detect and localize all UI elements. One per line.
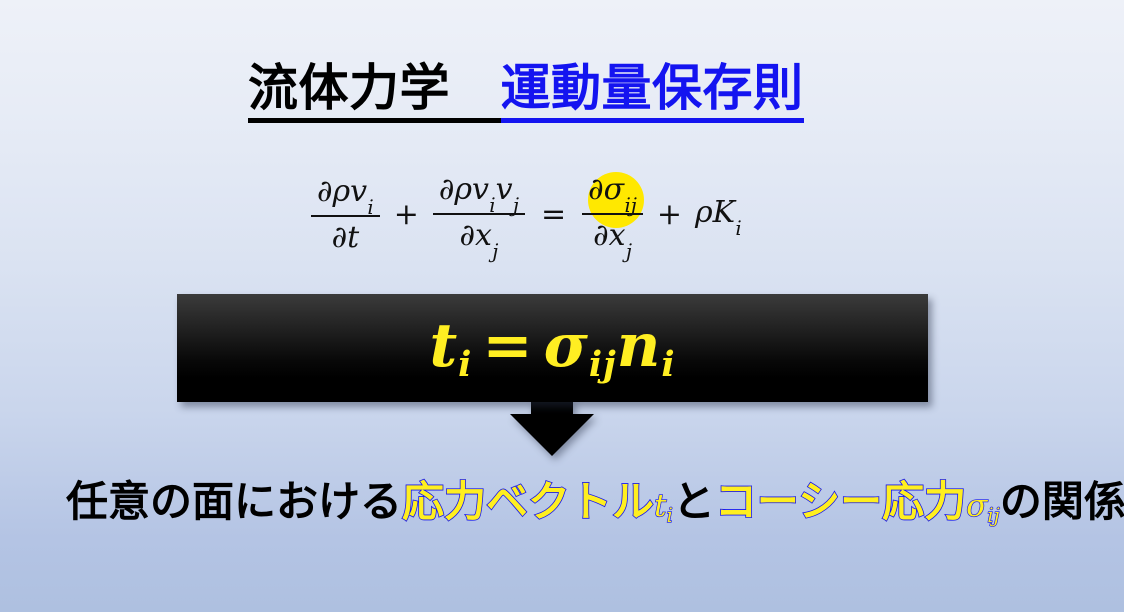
caption-math-sigmaij-body: σ bbox=[966, 488, 987, 524]
equation-term-2: ∂ρvivj ∂xj bbox=[433, 172, 525, 257]
term1-num-partial: ∂ bbox=[317, 174, 333, 209]
formula-lhs-sub: i bbox=[458, 344, 472, 385]
caption-math-ti-body: t bbox=[654, 488, 667, 524]
term2-num-sub-2: j bbox=[513, 194, 519, 217]
equation-equals: = bbox=[541, 197, 566, 232]
formula-equals: = bbox=[482, 311, 533, 381]
slide-canvas: 流体力学 運動量保存則 ∂ρvi ∂t + ∂ρvivj ∂xj = ∂σij … bbox=[0, 0, 1124, 612]
term1-den-partial: ∂ bbox=[332, 220, 348, 255]
cauchy-formula-box: ti=σijni bbox=[177, 294, 928, 402]
term3-den-partial: ∂ bbox=[593, 218, 609, 253]
term4-body: ρK bbox=[695, 195, 735, 230]
term3-numerator: ∂σij bbox=[582, 172, 643, 213]
caption-segment-1: 任意の面における bbox=[66, 478, 402, 525]
formula-rhs-body-1: σ bbox=[544, 311, 589, 381]
caption-segment-7: の関係式 bbox=[1000, 478, 1124, 525]
equation-plus-1: + bbox=[394, 197, 419, 232]
caption-math-ti: ti bbox=[654, 488, 673, 524]
term2-num-partial: ∂ bbox=[439, 172, 455, 207]
cauchy-formula: ti=σijni bbox=[429, 311, 675, 381]
caption-segment-4: と bbox=[673, 478, 715, 525]
term2-num-body-2: v bbox=[496, 172, 513, 207]
term2-num-body-1: ρv bbox=[454, 172, 489, 207]
equation-term-3: ∂σij ∂xj bbox=[582, 172, 643, 257]
formula-rhs-body-2: n bbox=[617, 311, 662, 381]
formula-rhs-sub-1: ij bbox=[589, 344, 617, 385]
page-title: 流体力学 運動量保存則 bbox=[248, 62, 804, 115]
term4-sub: i bbox=[735, 217, 741, 240]
term2-den-body: x bbox=[475, 218, 492, 253]
term1-num-sub: i bbox=[367, 196, 373, 219]
title-part-blue: 運動量保存則 bbox=[501, 60, 804, 123]
term3-denominator: ∂xj bbox=[587, 215, 638, 257]
term2-num-sub-1: i bbox=[489, 194, 495, 217]
equation-plus-2: + bbox=[657, 197, 682, 232]
term3-num-sub: ij bbox=[624, 194, 636, 217]
term1-den-body: t bbox=[347, 220, 359, 255]
title-gap bbox=[450, 60, 501, 123]
term3-den-body: x bbox=[609, 218, 626, 253]
caption-math-sigmaij-sub: ij bbox=[987, 504, 1000, 527]
term1-denominator: ∂t bbox=[326, 217, 366, 255]
term1-numerator: ∂ρvi bbox=[311, 174, 380, 215]
term2-denominator: ∂xj bbox=[454, 215, 505, 257]
term3-num-body: σ bbox=[604, 172, 624, 207]
caption-math-ti-sub: i bbox=[667, 504, 673, 527]
term2-den-partial: ∂ bbox=[460, 218, 476, 253]
caption-highlight-cauchy-stress: コーシー応力 bbox=[715, 478, 966, 525]
caption-math-sigmaij: σij bbox=[966, 488, 1000, 524]
term3-den-sub: j bbox=[626, 240, 632, 263]
title-part-black: 流体力学 bbox=[248, 60, 450, 123]
term3-num-partial: ∂ bbox=[588, 172, 604, 207]
equation-term-1: ∂ρvi ∂t bbox=[311, 174, 380, 255]
formula-lhs-body: t bbox=[429, 311, 458, 381]
formula-rhs-sub-2: i bbox=[661, 344, 675, 385]
caption-text: 任意の面における応力ベクトルtiとコーシー応力σijの関係式 bbox=[66, 479, 1124, 525]
down-arrow-icon bbox=[510, 400, 594, 456]
term2-numerator: ∂ρvivj bbox=[433, 172, 525, 213]
term2-den-sub: j bbox=[492, 240, 498, 263]
equation-term-4: ρKi bbox=[693, 195, 742, 234]
caption-highlight-stress-vector: 応力ベクトル bbox=[402, 478, 654, 525]
momentum-equation: ∂ρvi ∂t + ∂ρvivj ∂xj = ∂σij ∂xj + ρKi bbox=[308, 172, 742, 257]
term1-num-body: ρv bbox=[333, 174, 368, 209]
